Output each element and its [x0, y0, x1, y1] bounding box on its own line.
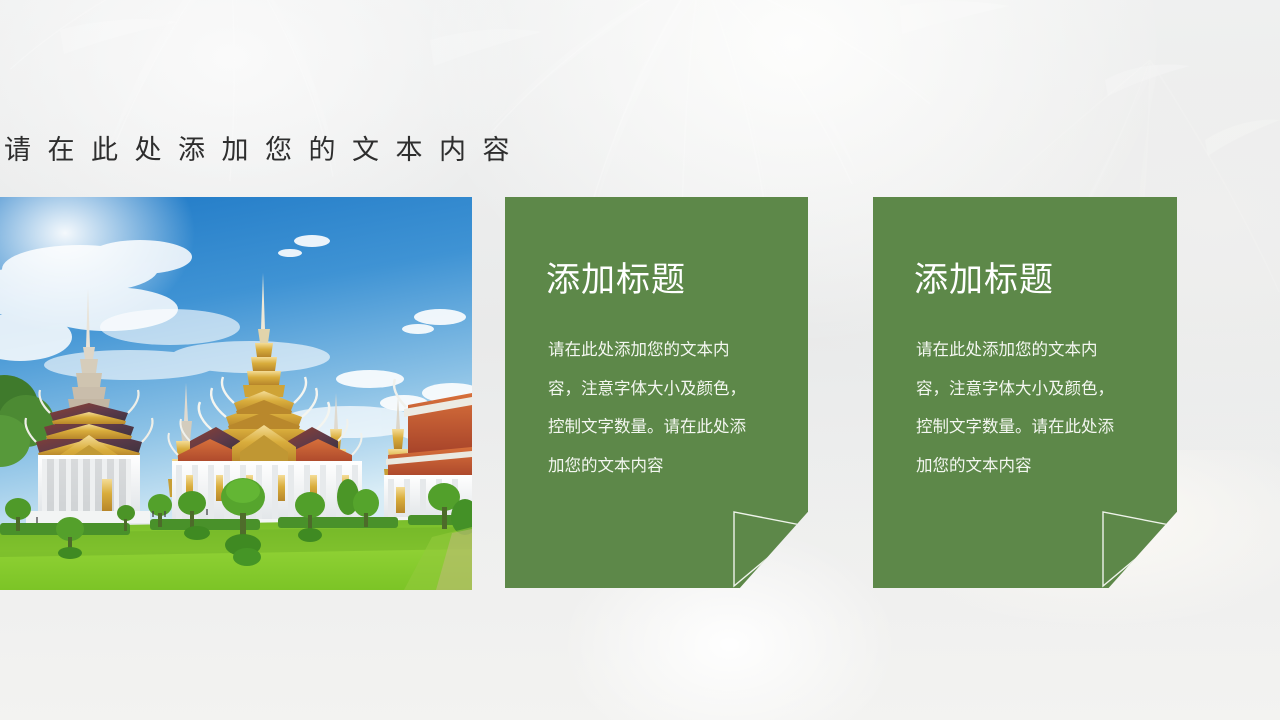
content-card-2[interactable]: 添加标题 请在此处添加您的文本内容，注意字体大小及颜色，控制文字数量。请在此处添…	[873, 197, 1177, 588]
temple-photo	[0, 197, 472, 590]
content-card-1[interactable]: 添加标题 请在此处添加您的文本内容，注意字体大小及颜色，控制文字数量。请在此处添…	[505, 197, 808, 588]
card-2-body: 请在此处添加您的文本内容，注意字体大小及颜色，控制文字数量。请在此处添加您的文本…	[916, 331, 1120, 485]
card-1-body: 请在此处添加您的文本内容，注意字体大小及颜色，控制文字数量。请在此处添加您的文本…	[548, 331, 752, 485]
card-2-title: 添加标题	[914, 259, 1054, 301]
page-title: 请在此处添加您的文本内容	[4, 131, 526, 171]
slide-canvas: 请在此处添加您的文本内容	[0, 0, 1280, 720]
card-1-title: 添加标题	[546, 259, 686, 301]
